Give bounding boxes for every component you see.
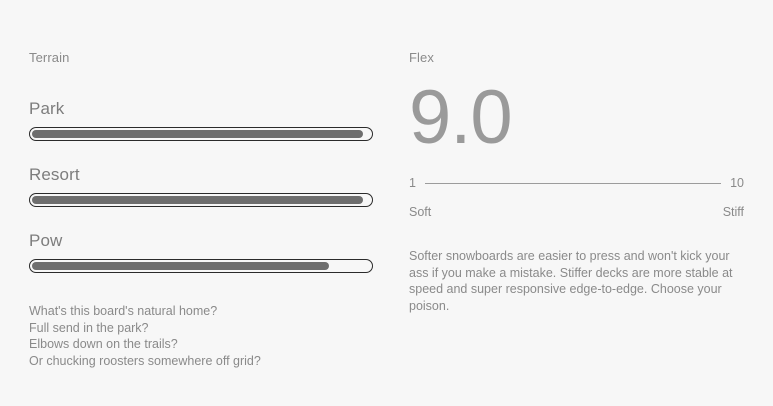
terrain-meter-pow[interactable] bbox=[29, 259, 373, 273]
flex-scale-words: Soft Stiff bbox=[409, 204, 744, 220]
terrain-meter-resort[interactable] bbox=[29, 193, 373, 207]
terrain-meter-resort-fill bbox=[32, 196, 363, 204]
terrain-meter-list: Park Resort Pow bbox=[29, 98, 373, 273]
flex-value: 9.0 bbox=[409, 78, 744, 158]
terrain-helper-text: What's this board's natural home? Full s… bbox=[29, 303, 373, 369]
terrain-section-label: Terrain bbox=[29, 50, 373, 66]
terrain-meter-pow-fill bbox=[32, 262, 329, 270]
terrain-meter-park-fill bbox=[32, 130, 363, 138]
terrain-question-1: What's this board's natural home? bbox=[29, 303, 373, 320]
terrain-question-2: Full send in the park? bbox=[29, 320, 373, 337]
flex-scale-max-label: 10 bbox=[730, 176, 744, 190]
terrain-label-park: Park bbox=[29, 98, 373, 120]
terrain-question-3: Elbows down on the trails? bbox=[29, 336, 373, 353]
flex-scale-track[interactable] bbox=[425, 183, 721, 184]
flex-description: Softer snowboards are easier to press an… bbox=[409, 248, 743, 314]
snowboard-spec-panel: Terrain Park Resort Pow bbox=[0, 0, 773, 406]
flex-scale-soft-label: Soft bbox=[409, 204, 431, 220]
terrain-row-resort: Resort bbox=[29, 164, 373, 207]
flex-panel: Flex 9.0 1 10 Soft Stiff Softer snowboar… bbox=[409, 50, 744, 314]
flex-scale-stiff-label: Stiff bbox=[723, 204, 744, 220]
terrain-label-pow: Pow bbox=[29, 230, 373, 252]
terrain-panel: Terrain Park Resort Pow bbox=[29, 50, 373, 369]
flex-scale[interactable]: 1 10 bbox=[409, 176, 744, 190]
terrain-meter-park[interactable] bbox=[29, 127, 373, 141]
terrain-label-resort: Resort bbox=[29, 164, 373, 186]
terrain-question-4: Or chucking roosters somewhere off grid? bbox=[29, 353, 373, 370]
terrain-row-pow: Pow bbox=[29, 230, 373, 273]
flex-section-label: Flex bbox=[409, 50, 744, 66]
flex-scale-min-label: 1 bbox=[409, 176, 416, 190]
terrain-row-park: Park bbox=[29, 98, 373, 141]
